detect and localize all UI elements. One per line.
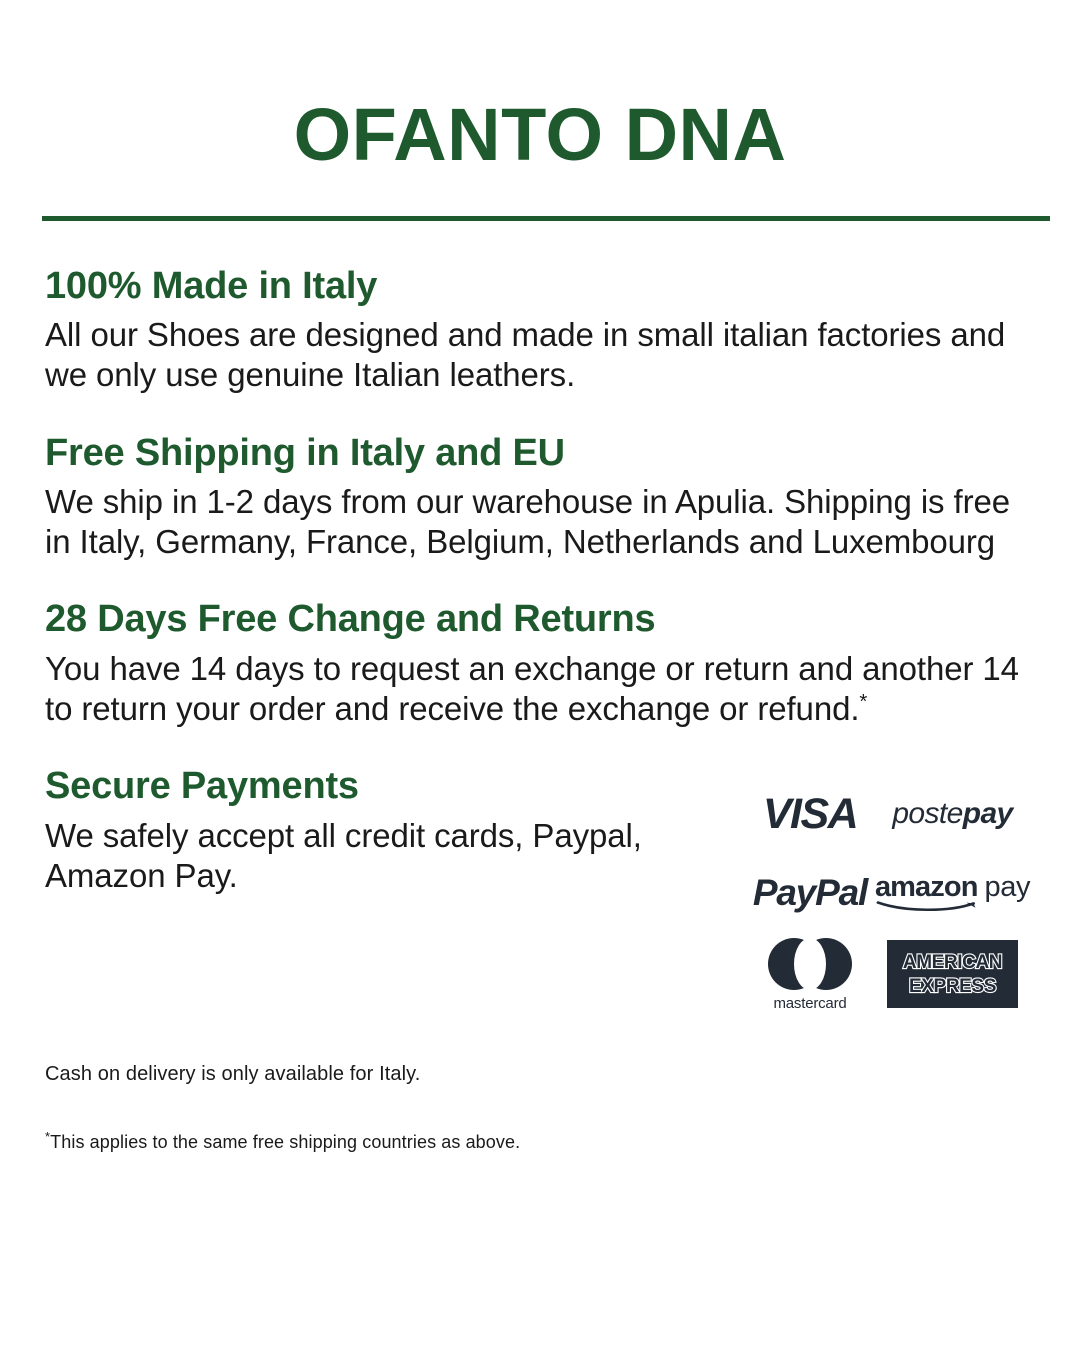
mastercard-icon: mastercard — [768, 938, 852, 1011]
section-body-change-and-returns-text: You have 14 days to request an exchange … — [45, 650, 1019, 727]
section-heading-free-shipping: Free Shipping in Italy and EU — [45, 430, 1040, 476]
note-cash-on-delivery: Cash on delivery is only available for I… — [45, 1061, 1040, 1087]
american-express-icon: AMERICAN EXPRESS — [887, 940, 1018, 1008]
secure-payments-row: Secure Payments We safely accept all cre… — [45, 763, 1040, 1017]
mastercard-overlap-lens — [794, 938, 826, 990]
visa-icon: VISA — [763, 793, 857, 836]
section-free-shipping: Free Shipping in Italy and EU We ship in… — [45, 430, 1040, 563]
title-divider — [42, 216, 1050, 221]
amazon-pay-wordmark: amazon — [875, 871, 978, 903]
section-made-in-italy: 100% Made in Italy All our Shoes are des… — [45, 263, 1040, 396]
amazon-swoosh-icon — [876, 900, 979, 912]
amex-line-express: EXPRESS — [909, 977, 996, 996]
section-heading-made-in-italy: 100% Made in Italy — [45, 263, 1040, 309]
secure-payments-text: Secure Payments We safely accept all cre… — [45, 763, 685, 896]
amazon-pay-label-amazon: amazon — [875, 873, 978, 912]
legal-footnote-text: This applies to the same free shipping c… — [50, 1132, 520, 1152]
amazon-pay-label-pay: pay — [985, 873, 1031, 902]
section-change-and-returns: 28 Days Free Change and Returns You have… — [45, 596, 1040, 729]
section-body-made-in-italy: All our Shoes are designed and made in s… — [45, 315, 1040, 396]
payment-logos-grid: VISA postepay PayPal amazon pay — [740, 775, 1025, 1017]
ofanto-dna-page: OFANTO DNA 100% Made in Italy All our Sh… — [0, 0, 1080, 1350]
content-area: 100% Made in Italy All our Shoes are des… — [0, 263, 1080, 1155]
section-body-secure-payments: We safely accept all credit cards, Paypa… — [45, 816, 685, 897]
section-heading-change-and-returns: 28 Days Free Change and Returns — [45, 596, 1040, 642]
postepay-label-poste: poste — [892, 799, 962, 829]
postepay-label-pay: pay — [963, 799, 1013, 829]
section-secure-payments: Secure Payments We safely accept all cre… — [45, 763, 1040, 1017]
amazon-pay-icon: amazon pay — [875, 873, 1030, 912]
section-body-free-shipping: We ship in 1-2 days from our warehouse i… — [45, 482, 1040, 563]
amex-line-american: AMERICAN — [903, 953, 1002, 972]
postepay-icon: postepay — [892, 799, 1012, 829]
paypal-icon: PayPal — [753, 874, 867, 911]
returns-footnote-marker: * — [859, 690, 867, 713]
section-heading-secure-payments: Secure Payments — [45, 763, 685, 809]
note-legal: *This applies to the same free shipping … — [45, 1131, 1040, 1154]
page-title: OFANTO DNA — [0, 0, 1080, 174]
mastercard-label: mastercard — [773, 996, 846, 1011]
footnotes: Cash on delivery is only available for I… — [45, 1061, 1040, 1154]
section-body-change-and-returns: You have 14 days to request an exchange … — [45, 649, 1040, 730]
mastercard-circles-icon — [768, 938, 852, 990]
